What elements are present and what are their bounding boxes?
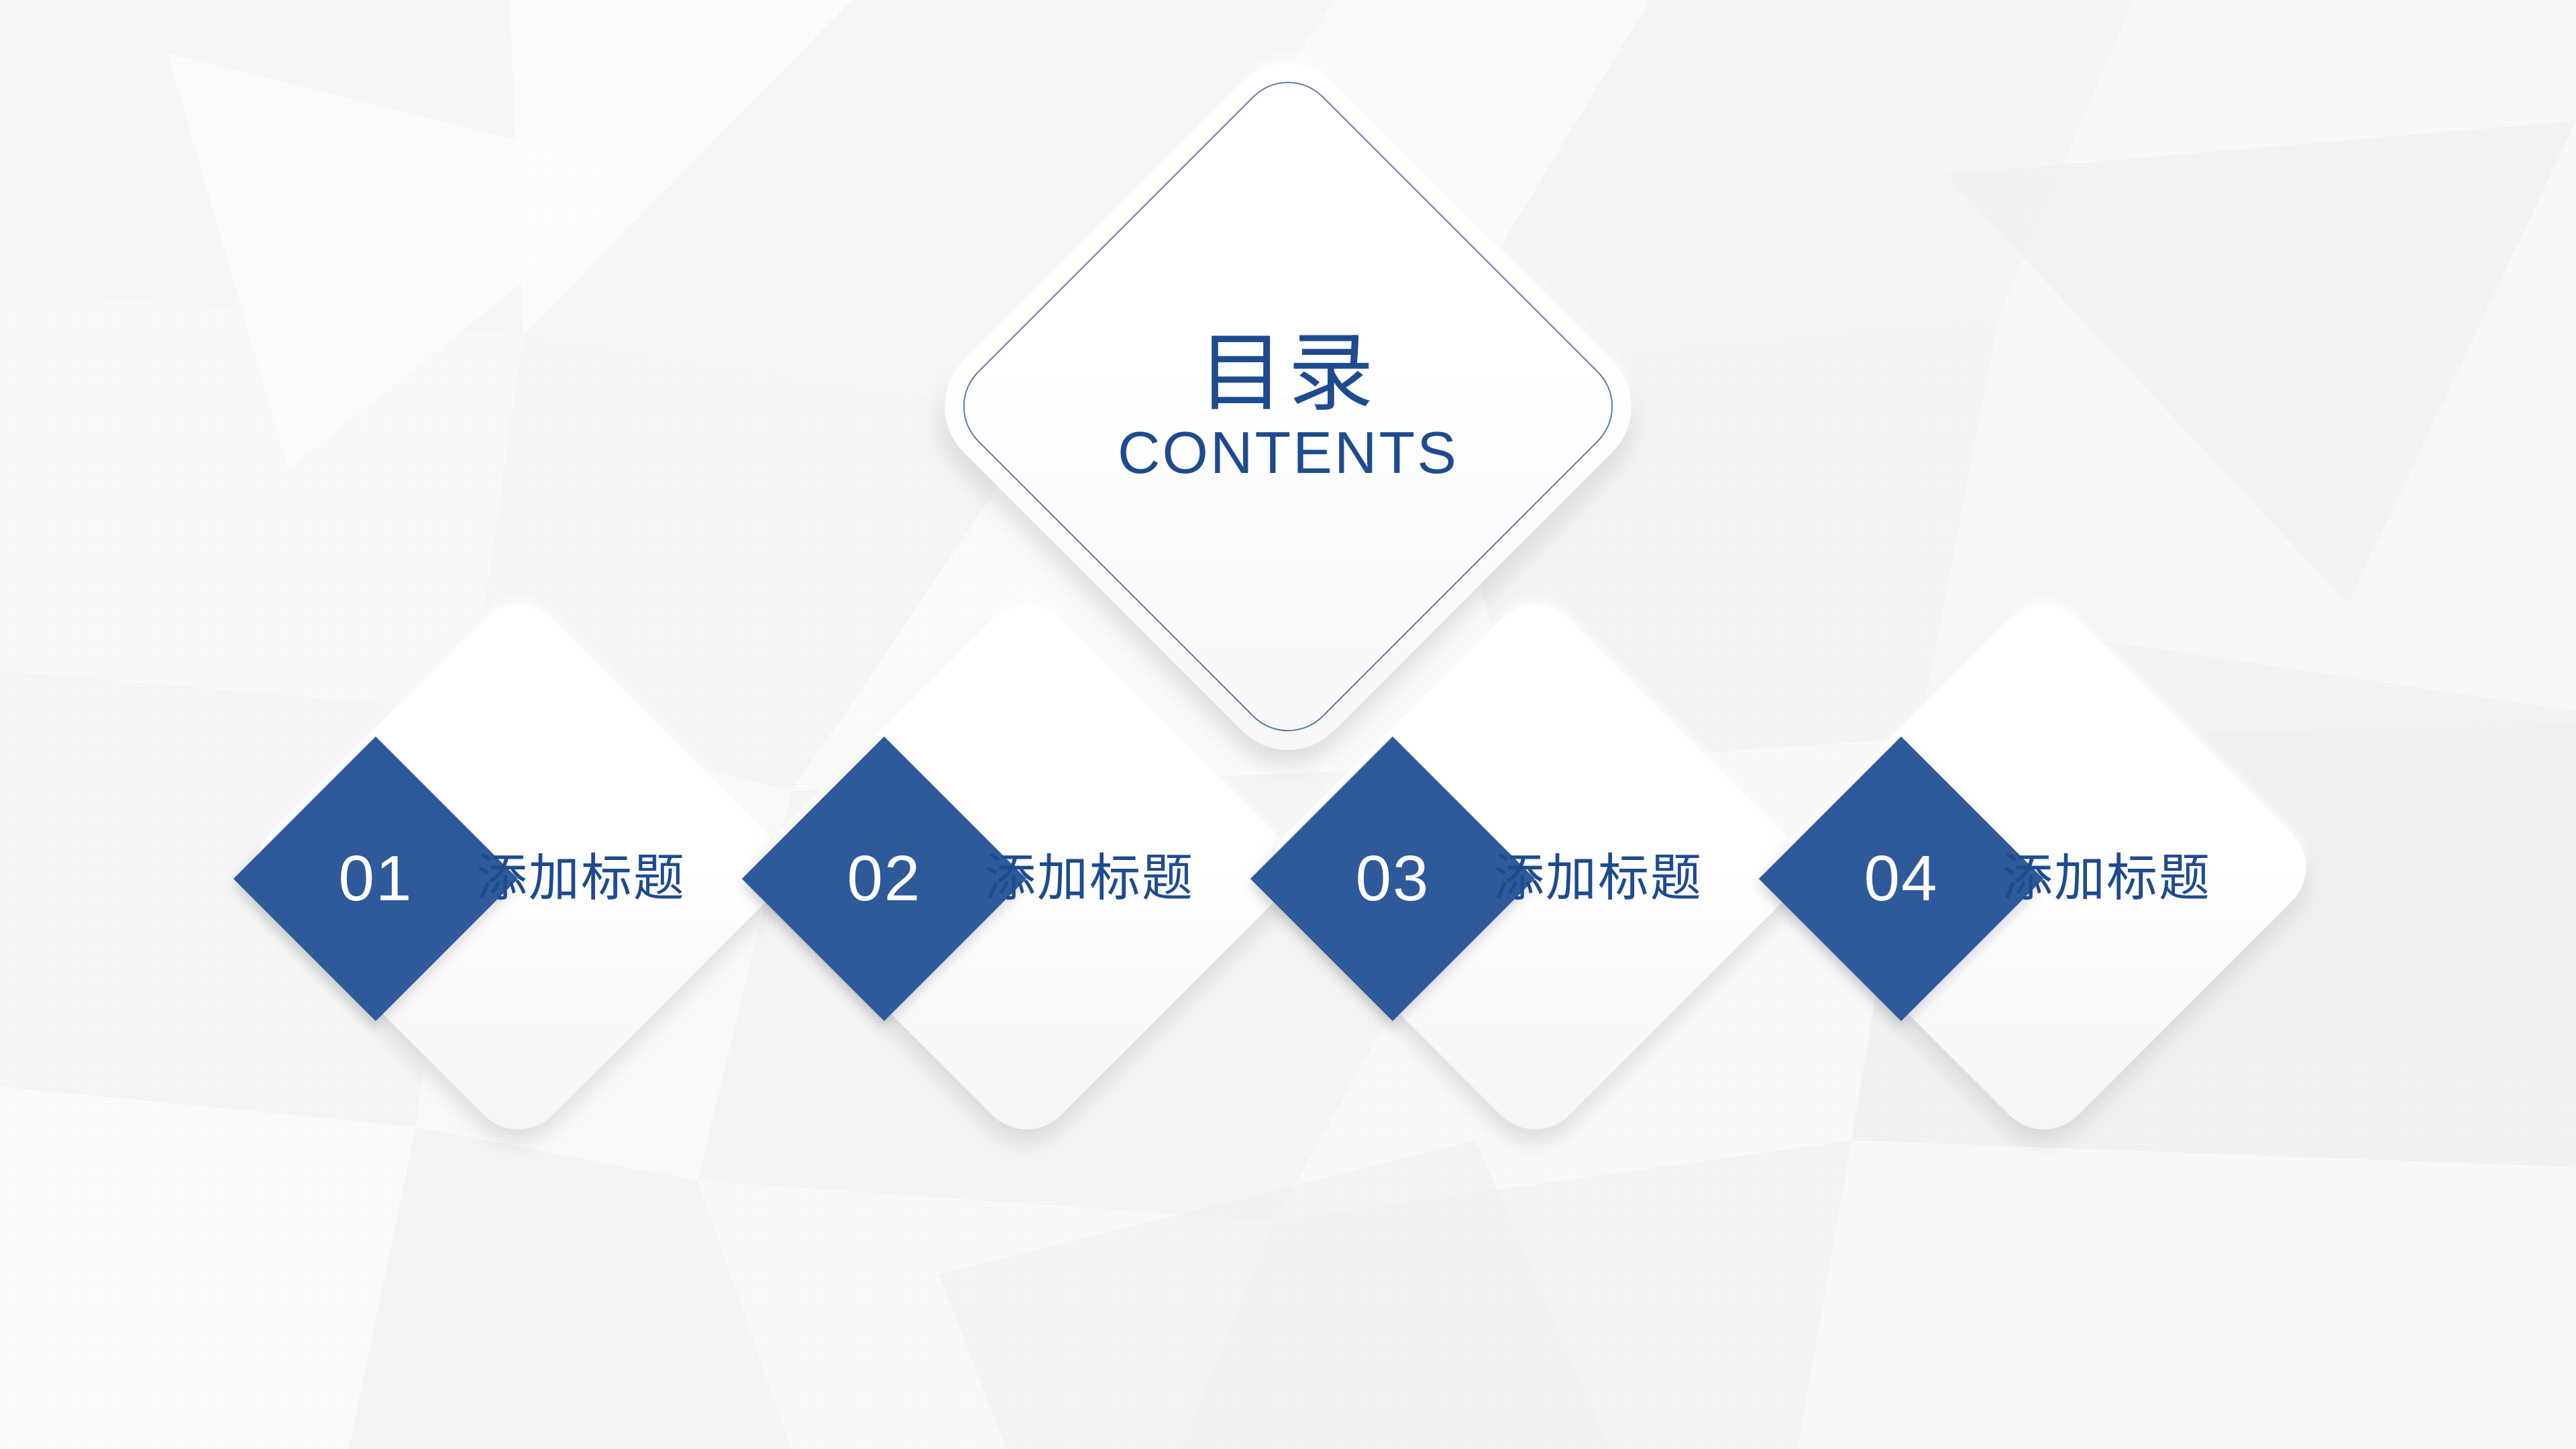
contents-item-04-badge[interactable]: 04 <box>1801 778 2002 979</box>
slide-canvas: 目录 CONTENTS 01 添加标题 02 添加标题 <box>0 0 2576 1449</box>
contents-item-02-number: 02 <box>784 778 985 979</box>
contents-item-02-label: 添加标题 <box>985 842 1206 916</box>
contents-item-03-number: 03 <box>1292 778 1493 979</box>
contents-title-text-group: 目录 CONTENTS <box>1026 145 1550 668</box>
contents-item-01[interactable]: 01 添加标题 <box>275 738 691 1154</box>
contents-item-04-label: 添加标题 <box>2002 842 2223 916</box>
contents-item-02-badge[interactable]: 02 <box>784 778 985 979</box>
contents-items-row: 01 添加标题 02 添加标题 03 添加标题 <box>0 738 2576 1154</box>
contents-item-04[interactable]: 04 添加标题 <box>1801 738 2216 1154</box>
contents-item-01-label: 添加标题 <box>476 842 698 916</box>
contents-title-cn: 目录 <box>1198 331 1378 417</box>
contents-item-03-label: 添加标题 <box>1493 842 1715 916</box>
contents-item-02[interactable]: 02 添加标题 <box>784 738 1199 1154</box>
contents-item-04-number: 04 <box>1801 778 2002 979</box>
contents-item-03[interactable]: 03 添加标题 <box>1292 738 1708 1154</box>
contents-title-en: CONTENTS <box>1118 423 1458 482</box>
contents-item-01-number: 01 <box>275 778 476 979</box>
contents-item-03-badge[interactable]: 03 <box>1292 778 1493 979</box>
contents-item-01-badge[interactable]: 01 <box>275 778 476 979</box>
contents-title-diamond: 目录 CONTENTS <box>1026 145 1550 668</box>
